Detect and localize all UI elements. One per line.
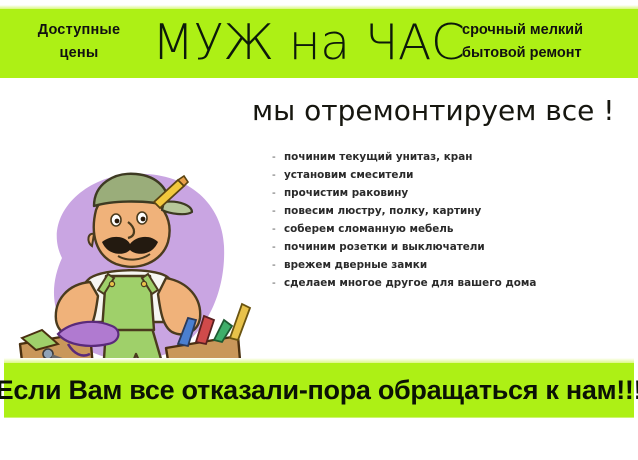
service-label: починим розетки и выключатели bbox=[284, 241, 485, 253]
service-label: повесим люстру, полку, картину bbox=[284, 205, 481, 217]
service-label: врежем дверные замки bbox=[284, 259, 427, 271]
list-item: -врежем дверные замки bbox=[272, 256, 602, 274]
list-item: -соберем сломанную мебель bbox=[272, 220, 602, 238]
tagline: мы отремонтируем все ! bbox=[252, 94, 614, 128]
bullet-dash-icon: - bbox=[272, 256, 276, 274]
right-slogan-line1: срочный мелкий bbox=[462, 22, 583, 38]
bullet-dash-icon: - bbox=[272, 184, 276, 202]
service-label: установим смесители bbox=[284, 169, 413, 181]
list-item: -прочистим раковину bbox=[272, 184, 602, 202]
list-item: -починим розетки и выключатели bbox=[272, 238, 602, 256]
main-content: мы отремонтируем все ! -починим текущий … bbox=[0, 78, 638, 362]
right-slogan: срочный мелкий бытовой ремонт bbox=[462, 19, 634, 65]
bullet-dash-icon: - bbox=[272, 238, 276, 256]
list-item: -повесим люстру, полку, картину bbox=[272, 202, 602, 220]
bullet-dash-icon: - bbox=[272, 274, 276, 292]
service-label: прочистим раковину bbox=[284, 187, 408, 199]
service-list: -починим текущий унитаз, кран -установим… bbox=[272, 148, 602, 292]
brand-title: МУЖ на ЧАС bbox=[152, 12, 465, 74]
bullet-dash-icon: - bbox=[272, 166, 276, 184]
header-band: Доступные цены МУЖ на ЧАС срочный мелкий… bbox=[0, 8, 638, 78]
service-label: починим текущий унитаз, кран bbox=[284, 151, 472, 163]
bullet-dash-icon: - bbox=[272, 148, 276, 166]
bottom-whitespace bbox=[0, 418, 638, 460]
left-slogan: Доступные цены bbox=[14, 19, 144, 65]
service-label: соберем сломанную мебель bbox=[284, 223, 453, 235]
list-item: -сделаем многое другое для вашего дома bbox=[272, 274, 602, 292]
advertisement-poster: Доступные цены МУЖ на ЧАС срочный мелкий… bbox=[0, 0, 638, 460]
footer-banner: Если Вам все отказали-пора обращаться к … bbox=[4, 362, 634, 418]
service-label: сделаем многое другое для вашего дома bbox=[284, 277, 536, 289]
left-slogan-line1: Доступные bbox=[38, 22, 121, 38]
bullet-dash-icon: - bbox=[272, 220, 276, 238]
list-item: -починим текущий унитаз, кран bbox=[272, 148, 602, 166]
bullet-dash-icon: - bbox=[272, 202, 276, 220]
overalls-bib bbox=[98, 274, 158, 330]
right-slogan-line2: бытовой ремонт bbox=[462, 42, 634, 65]
left-slogan-line2: цены bbox=[14, 42, 144, 65]
call-to-action-text: Если Вам все отказали-пора обращаться к … bbox=[0, 375, 638, 405]
list-item: -установим смесители bbox=[272, 166, 602, 184]
